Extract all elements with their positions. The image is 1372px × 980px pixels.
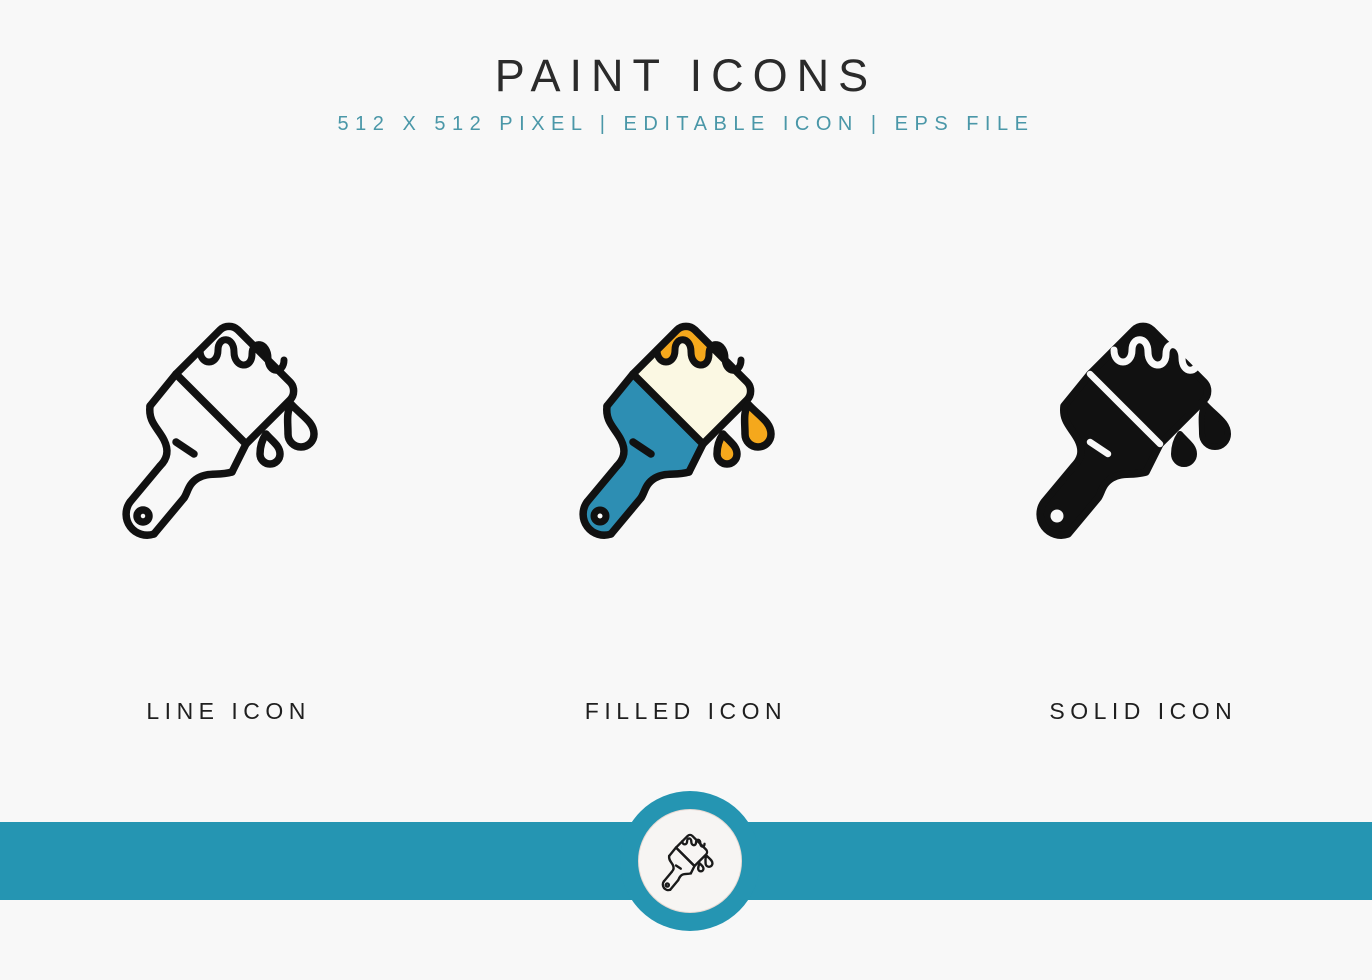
icon-label-solid: SOLID ICON — [1049, 698, 1237, 725]
handle-hole — [594, 510, 606, 522]
icon-column-filled: FILLED ICON — [457, 300, 914, 770]
page-subtitle: 512 X 512 PIXEL | EDITABLE ICON | EPS FI… — [0, 99, 1372, 136]
icon-label-line: LINE ICON — [146, 698, 311, 725]
icon-column-line: LINE ICON — [0, 300, 457, 770]
paint-drop-large — [745, 404, 771, 447]
header: PAINT ICONS 512 X 512 PIXEL | EDITABLE I… — [0, 0, 1372, 136]
paint-drop-small — [1174, 434, 1194, 464]
paint-drop-small — [717, 434, 737, 464]
paintbrush-badge-icon — [659, 828, 721, 894]
icon-column-solid: SOLID ICON — [915, 300, 1372, 770]
paintbrush-filled-icon[interactable] — [571, 300, 801, 550]
paintbrush-solid-icon[interactable] — [1028, 300, 1258, 550]
icon-sheet-page: PAINT ICONS 512 X 512 PIXEL | EDITABLE I… — [0, 0, 1372, 980]
badge-inner-circle — [638, 809, 742, 913]
handle-hole — [1051, 510, 1064, 523]
paintbrush-line-icon[interactable] — [114, 300, 344, 550]
badge-circle[interactable] — [620, 791, 760, 931]
icon-label-filled: FILLED ICON — [585, 698, 787, 725]
icon-row: LINE ICON — [0, 300, 1372, 770]
page-title: PAINT ICONS — [0, 0, 1372, 99]
paint-drop-large — [1202, 404, 1228, 447]
